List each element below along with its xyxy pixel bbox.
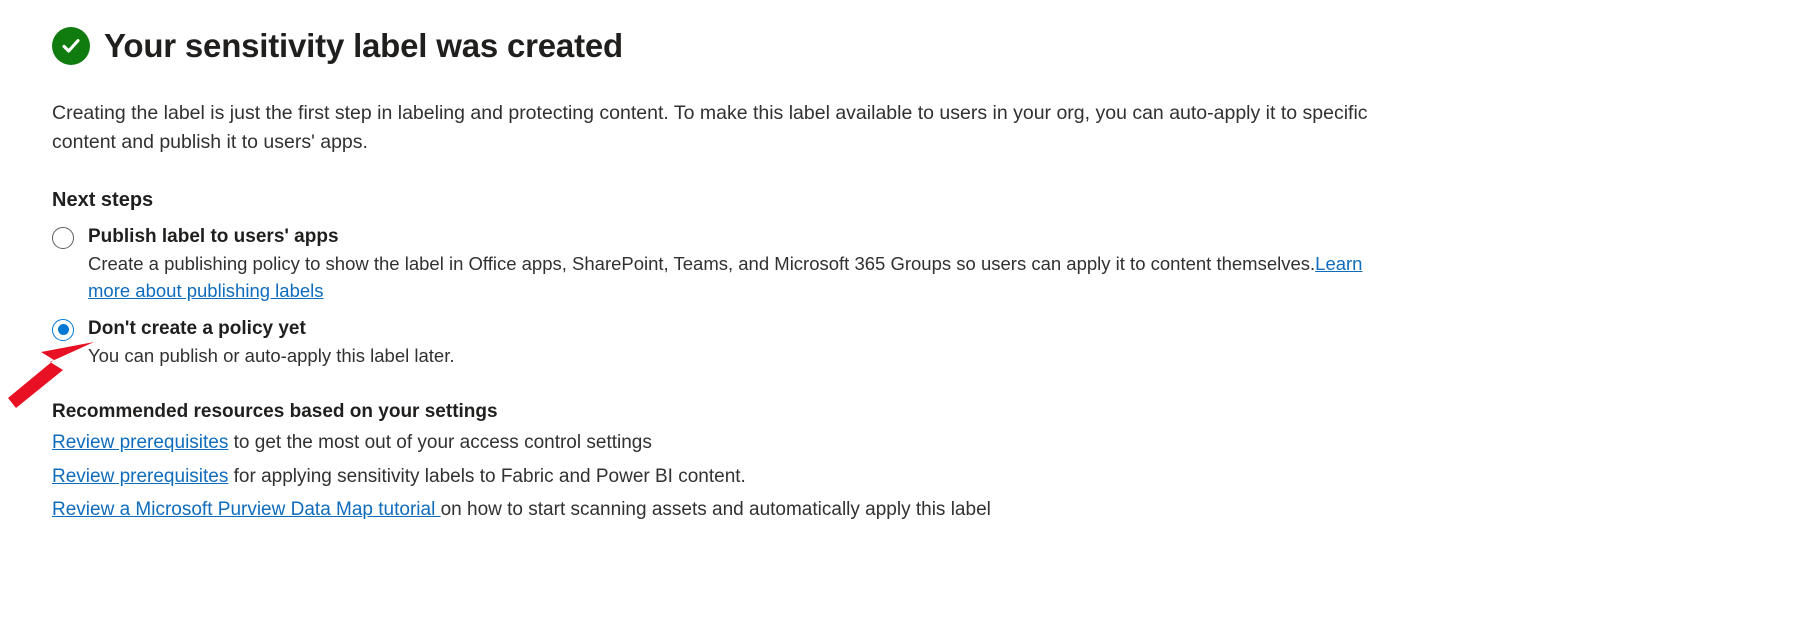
intro-paragraph: Creating the label is just the first ste… bbox=[52, 99, 1372, 158]
option-publish-label-to-users-apps[interactable]: Publish label to users' apps Create a pu… bbox=[0, 224, 1793, 305]
review-prerequisites-link-1[interactable]: Review prerequisites bbox=[52, 432, 228, 453]
review-prerequisites-link-2[interactable]: Review prerequisites bbox=[52, 466, 228, 487]
resource-line-text: to get the most out of your access contr… bbox=[228, 432, 652, 453]
option-dont-create-a-policy-yet[interactable]: Don't create a policy yet You can publis… bbox=[0, 316, 1793, 370]
checkmark-circle-icon bbox=[52, 27, 90, 65]
next-steps-heading: Next steps bbox=[52, 189, 1793, 212]
next-steps-options: Publish label to users' apps Create a pu… bbox=[0, 224, 1793, 371]
resource-line: Review prerequisites for applying sensit… bbox=[52, 463, 1793, 491]
radio-publish-label-to-users-apps[interactable] bbox=[52, 227, 74, 249]
resource-line: Review prerequisites to get the most out… bbox=[52, 429, 1793, 457]
success-page: Your sensitivity label was created Creat… bbox=[0, 0, 1793, 630]
recommended-resources-section: Recommended resources based on your sett… bbox=[0, 401, 1793, 524]
recommended-resources-heading: Recommended resources based on your sett… bbox=[52, 401, 1793, 423]
resource-line-text: on how to start scanning assets and auto… bbox=[441, 499, 991, 520]
option-label-dont-create-policy: Don't create a policy yet bbox=[88, 316, 454, 342]
resource-line: Review a Microsoft Purview Data Map tuto… bbox=[52, 496, 1793, 524]
page-header: Your sensitivity label was created bbox=[0, 0, 1793, 65]
radio-dont-create-a-policy-yet[interactable] bbox=[52, 319, 74, 341]
option-body: Publish label to users' apps Create a pu… bbox=[88, 224, 1388, 305]
page-title: Your sensitivity label was created bbox=[104, 27, 623, 65]
option-description-dont-create-policy: You can publish or auto-apply this label… bbox=[88, 343, 454, 370]
option-description-text: Create a publishing policy to show the l… bbox=[88, 253, 1315, 274]
purview-data-map-tutorial-link[interactable]: Review a Microsoft Purview Data Map tuto… bbox=[52, 499, 441, 520]
option-label-publish-label: Publish label to users' apps bbox=[88, 224, 1388, 250]
option-body: Don't create a policy yet You can publis… bbox=[88, 316, 454, 370]
resource-line-text: for applying sensitivity labels to Fabri… bbox=[228, 466, 745, 487]
option-description-publish-label: Create a publishing policy to show the l… bbox=[88, 251, 1388, 305]
